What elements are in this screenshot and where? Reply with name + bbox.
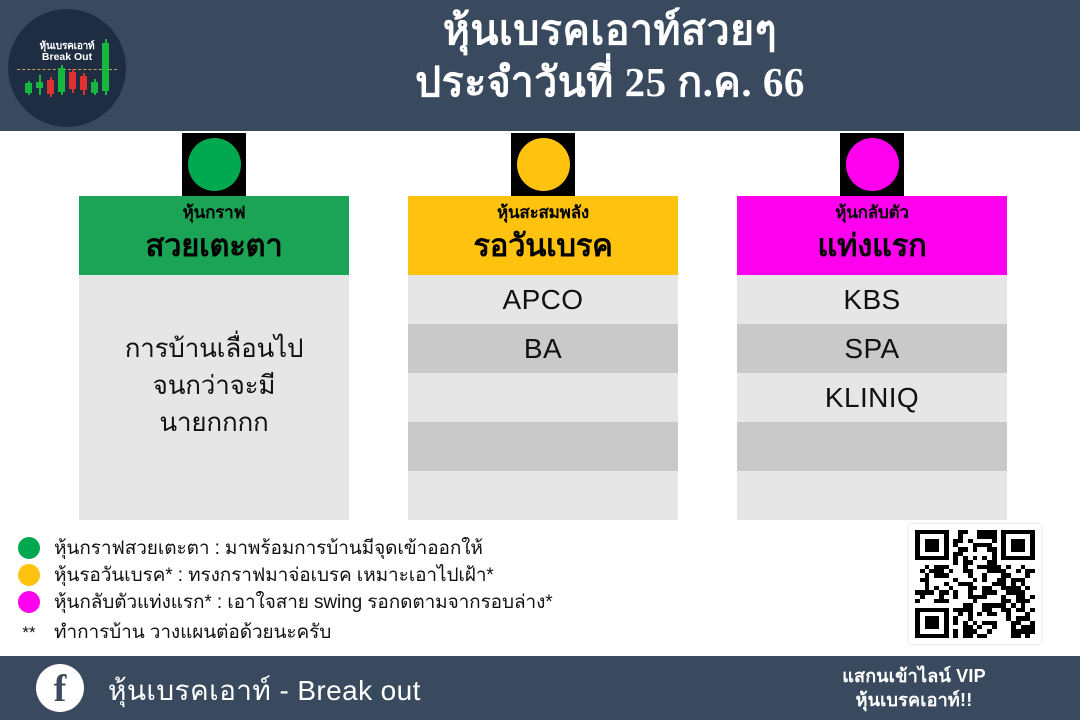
header-bar: หุ้นเบรคเอาท์ Break Out	[0, 0, 1080, 131]
column-body-green: การบ้านเลื่อนไป จนกว่าจะมี นายกกกก	[79, 275, 349, 520]
column-header-yellow: หุ้นสะสมพลัง รอวันเบรค	[408, 196, 678, 275]
title-line-2: ประจำวันที่ 25 ก.ค. 66	[140, 56, 1080, 108]
legend-item-label: หุ้นกลับตัวแท่งแรก* : เอาใจสาย swing รอก…	[54, 587, 553, 617]
column-body-yellow: APCO BA	[408, 275, 678, 520]
column-body-magenta: KBS SPA KLINIQ	[737, 275, 1007, 520]
footnote-stars: **	[18, 623, 40, 643]
facebook-icon[interactable]: f	[36, 664, 84, 712]
qr-code-image	[915, 530, 1035, 638]
yellow-dot-icon	[18, 564, 40, 586]
status-dot-badge-green	[182, 133, 246, 196]
legend-item-label: หุ้นรอวันเบรค* : ทรงกราฟมาจ่อเบรค เหมาะเ…	[54, 560, 494, 590]
infographic-page: หุ้นเบรคเอาท์ Break Out	[0, 0, 1080, 720]
green-dot-icon	[18, 537, 40, 559]
category-column-yellow: หุ้นสะสมพลัง รอวันเบรค APCO BA	[408, 196, 678, 520]
yellow-dot-icon	[517, 138, 570, 191]
stock-row	[408, 422, 678, 471]
column-header-green: หุ้นกราฟ สวยเตะตา	[79, 196, 349, 275]
facebook-page-name: หุ้นเบรคเอาท์ - Break out	[108, 669, 421, 713]
logo-circle: หุ้นเบรคเอาท์ Break Out	[8, 9, 126, 127]
green-dot-icon	[188, 138, 241, 191]
footer-bar: f หุ้นเบรคเอาท์ - Break out แสกนเข้าไลน์…	[0, 656, 1080, 720]
category-column-magenta: หุ้นกลับตัว แท่งแรก KBS SPA KLINIQ	[737, 196, 1007, 520]
legend-item-label: หุ้นกราฟสวยเตะตา : มาพร้อมการบ้านมีจุดเข…	[54, 533, 483, 563]
brand-logo: หุ้นเบรคเอาท์ Break Out	[8, 9, 130, 131]
qr-code[interactable]	[909, 524, 1041, 644]
stock-row	[737, 422, 1007, 471]
footnote-label: ทำการบ้าน วางแผนต่อด้วยนะครับ	[54, 617, 331, 647]
vip-line-1: แสกนเข้าไลน์ VIP	[764, 664, 1064, 688]
title-line-1: หุ้นเบรคเอาท์สวยๆ	[140, 4, 1080, 56]
vip-callout: แสกนเข้าไลน์ VIP หุ้นเบรคเอาท์!!	[764, 664, 1064, 712]
stock-row: KBS	[737, 275, 1007, 324]
legend-footnote: ** ทำการบ้าน วางแผนต่อด้วยนะครับ	[18, 617, 738, 644]
stock-row: BA	[408, 324, 678, 373]
stock-row	[408, 471, 678, 520]
stock-row	[408, 373, 678, 422]
column-subtitle: หุ้นกลับตัว	[737, 200, 1007, 225]
note-line: การบ้านเลื่อนไป	[125, 330, 304, 367]
stock-row	[737, 471, 1007, 520]
note-line: นายกกกก	[159, 404, 268, 441]
column-title: สวยเตะตา	[79, 225, 349, 267]
column-title: รอวันเบรค	[408, 225, 678, 267]
column-subtitle: หุ้นสะสมพลัง	[408, 200, 678, 225]
category-column-green: หุ้นกราฟ สวยเตะตา การบ้านเลื่อนไป จนกว่า…	[79, 196, 349, 520]
vip-line-2: หุ้นเบรคเอาท์!!	[764, 688, 1064, 712]
legend-item-magenta: หุ้นกลับตัวแท่งแรก* : เอาใจสาย swing รอก…	[18, 588, 738, 615]
column-header-magenta: หุ้นกลับตัว แท่งแรก	[737, 196, 1007, 275]
legend-item-yellow: หุ้นรอวันเบรค* : ทรงกราฟมาจ่อเบรค เหมาะเ…	[18, 561, 738, 588]
column-title: แท่งแรก	[737, 225, 1007, 267]
status-dot-badge-yellow	[511, 133, 575, 196]
note-line: จนกว่าจะมี	[153, 367, 276, 404]
stock-row: KLINIQ	[737, 373, 1007, 422]
magenta-dot-icon	[846, 138, 899, 191]
legend: หุ้นกราฟสวยเตะตา : มาพร้อมการบ้านมีจุดเข…	[18, 534, 738, 644]
page-title: หุ้นเบรคเอาท์สวยๆ ประจำวันที่ 25 ก.ค. 66	[140, 4, 1080, 108]
magenta-dot-icon	[18, 591, 40, 613]
column-subtitle: หุ้นกราฟ	[79, 200, 349, 225]
stock-row: SPA	[737, 324, 1007, 373]
legend-item-green: หุ้นกราฟสวยเตะตา : มาพร้อมการบ้านมีจุดเข…	[18, 534, 738, 561]
stock-row: APCO	[408, 275, 678, 324]
status-dot-badge-magenta	[840, 133, 904, 196]
facebook-glyph: f	[54, 667, 67, 711]
